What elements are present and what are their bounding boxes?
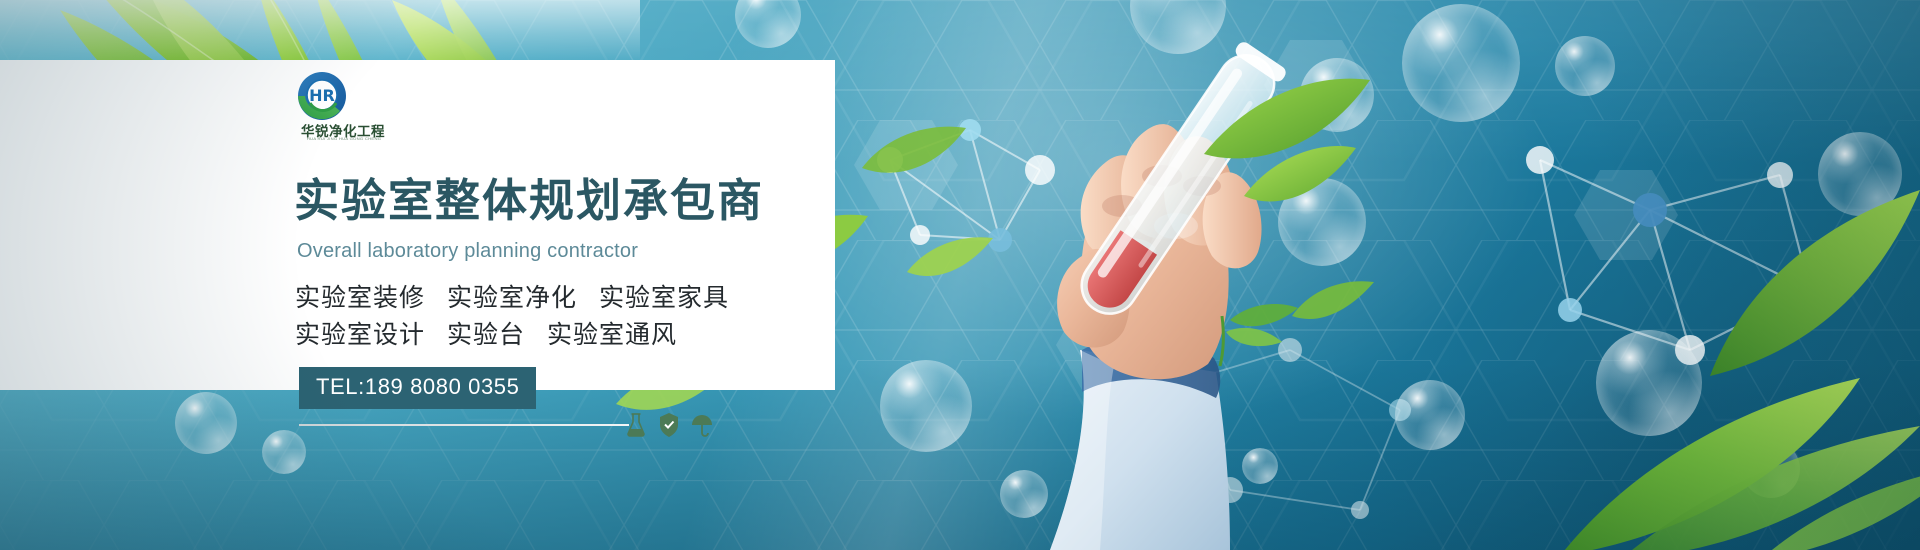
leaf-icon — [1240, 134, 1360, 224]
services-line-1: 实验室装修实验室净化实验室家具 — [295, 278, 729, 314]
umbrella-icon — [691, 412, 713, 438]
panel-top-haze — [0, 0, 640, 62]
headline: 实验室整体规划承包商 — [294, 178, 764, 223]
leaf-icon — [1700, 176, 1920, 386]
promo-banner: HR 华锐净化工程 HUA RUI JING HUA GONG CHENG 实验… — [0, 0, 1920, 550]
flask-icon — [625, 412, 647, 438]
divider — [299, 424, 629, 426]
bubble — [1402, 4, 1520, 122]
service-item: 实验室装修 — [295, 283, 425, 312]
service-item: 实验室设计 — [295, 320, 425, 349]
shield-icon — [658, 412, 680, 438]
brand-logo: HR 华锐净化工程 HUA RUI JING HUA GONG CHENG — [296, 70, 496, 145]
telephone-button[interactable]: TEL:189 8080 0355 — [299, 367, 536, 409]
hr-circle-logo-icon: HR — [296, 70, 348, 122]
services-line-2: 实验室设计实验台实验室通风 — [295, 315, 677, 351]
service-item: 实验室通风 — [547, 320, 677, 349]
content-panel-inner: HR 华锐净化工程 HUA RUI JING HUA GONG CHENG 实验… — [0, 60, 835, 390]
subheadline: Overall laboratory planning contractor — [297, 240, 638, 263]
leaf-icon — [860, 120, 970, 190]
leaf-icon — [905, 232, 995, 290]
feature-icons — [625, 412, 717, 438]
bubble — [175, 392, 237, 454]
service-item: 实验室家具 — [599, 283, 729, 312]
svg-text:HR: HR — [309, 86, 335, 105]
service-item: 实验室净化 — [447, 283, 577, 312]
bubble — [1555, 36, 1615, 96]
bubble — [1395, 380, 1465, 450]
bubble — [262, 430, 306, 474]
sprig-icon — [1220, 304, 1298, 366]
brand-name-pinyin: HUA RUI JING HUA GONG CHENG — [286, 136, 402, 141]
service-item: 实验台 — [447, 320, 525, 349]
leaf-icon — [1290, 276, 1376, 332]
